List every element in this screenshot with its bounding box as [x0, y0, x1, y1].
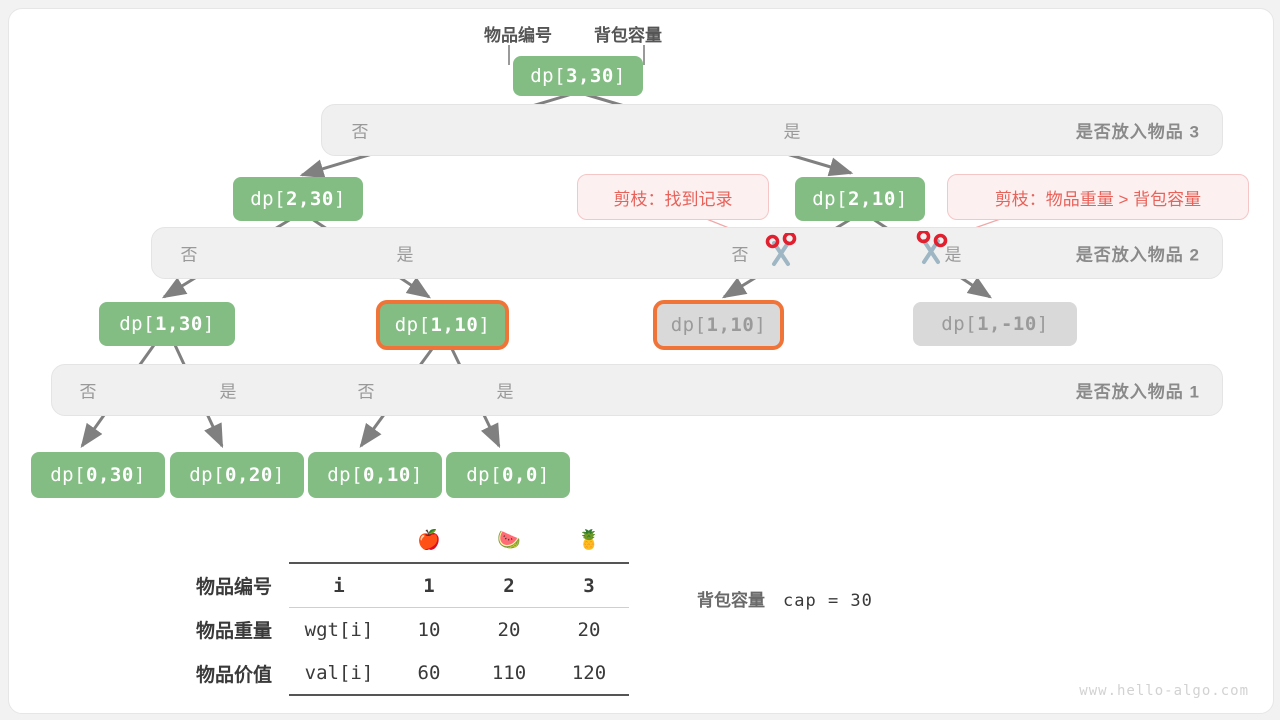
row-key-i: i [289, 563, 389, 608]
tree-node-dp-2-10[interactable]: dp[2,10] [795, 177, 925, 221]
cell-index-1: 1 [389, 563, 469, 608]
cell-value-3: 120 [549, 651, 629, 695]
cell-index-3: 3 [549, 563, 629, 608]
row-label-item-index: 物品编号 [179, 563, 289, 608]
branch-label-no-item3: 否 [352, 118, 369, 143]
branch-label-yes-item1-b: 是 [497, 378, 514, 403]
tree-node-dp-1-10-memo-source[interactable]: dp[1,10] [376, 300, 509, 350]
tree-node-dp-3-30[interactable]: dp[3,30] [513, 56, 643, 96]
capacity-note-value: cap = 30 [783, 591, 873, 611]
tree-node-dp-0-10[interactable]: dp[0,10] [308, 452, 442, 498]
branch-label-no-item2-left: 否 [181, 241, 198, 266]
cell-value-2: 110 [469, 651, 549, 695]
band-title-item3: 是否放入物品 3 [1076, 118, 1200, 143]
items-table: 🍎 🍉 🍍 物品编号 i 1 2 3 物品重量 wgt[i] 10 20 20 … [179, 519, 629, 696]
table-row-fruits: 🍎 🍉 🍍 [179, 519, 629, 563]
table-row-value: 物品价值 val[i] 60 110 120 [179, 651, 629, 695]
tree-node-dp-0-20[interactable]: dp[0,20] [170, 452, 304, 498]
band-title-item2: 是否放入物品 2 [1076, 241, 1200, 266]
cell-index-2: 2 [469, 563, 549, 608]
fruit-icon-pineapple: 🍍 [549, 519, 629, 563]
tree-node-dp-0-0[interactable]: dp[0,0] [446, 452, 570, 498]
table-row-index: 物品编号 i 1 2 3 [179, 563, 629, 608]
fruit-row-spacer [179, 519, 289, 563]
decision-band-item3: 是否放入物品 3 [321, 104, 1223, 156]
row-label-item-value: 物品价值 [179, 651, 289, 695]
branch-label-no-item1-b: 否 [358, 378, 375, 403]
branch-label-no-item1-a: 否 [80, 378, 97, 403]
scissors-icon-left [764, 233, 798, 269]
tree-node-dp-1-30[interactable]: dp[1,30] [99, 302, 235, 346]
table-row-weight: 物品重量 wgt[i] 10 20 20 [179, 608, 629, 652]
tree-node-dp-1-neg10[interactable]: dp[1,-10] [913, 302, 1077, 346]
band-title-item1: 是否放入物品 1 [1076, 378, 1200, 403]
scissors-icon-right [914, 231, 948, 267]
decision-band-item2: 是否放入物品 2 [151, 227, 1223, 279]
branch-label-yes-item2-left: 是 [397, 241, 414, 266]
branch-label-no-item2-right: 否 [732, 241, 749, 266]
diagram-card: 物品编号 背包容量 是否放入物品 3 否 是 是否放入物品 2 否 是 否 是 … [8, 8, 1274, 714]
row-label-item-weight: 物品重量 [179, 608, 289, 652]
cell-value-1: 60 [389, 651, 469, 695]
fruit-icon-apple: 🍎 [389, 519, 469, 563]
callout-prune-memo-hit: 剪枝：找到记录 [577, 174, 769, 220]
fruit-icon-watermelon: 🍉 [469, 519, 549, 563]
row-key-val: val[i] [289, 651, 389, 695]
capacity-note: 背包容量cap = 30 [697, 586, 873, 611]
capacity-note-label: 背包容量 [697, 591, 765, 610]
cell-weight-1: 10 [389, 608, 469, 652]
cell-weight-3: 20 [549, 608, 629, 652]
watermark: www.hello-algo.com [1079, 683, 1249, 699]
cell-weight-2: 20 [469, 608, 549, 652]
callout-prune-overweight: 剪枝：物品重量 > 背包容量 [947, 174, 1249, 220]
branch-label-yes-item1-a: 是 [220, 378, 237, 403]
tree-node-dp-1-10-pruned[interactable]: dp[1,10] [653, 300, 784, 350]
tree-node-dp-0-30[interactable]: dp[0,30] [31, 452, 165, 498]
tree-node-dp-2-30[interactable]: dp[2,30] [233, 177, 363, 221]
branch-label-yes-item3: 是 [784, 118, 801, 143]
row-key-wgt: wgt[i] [289, 608, 389, 652]
